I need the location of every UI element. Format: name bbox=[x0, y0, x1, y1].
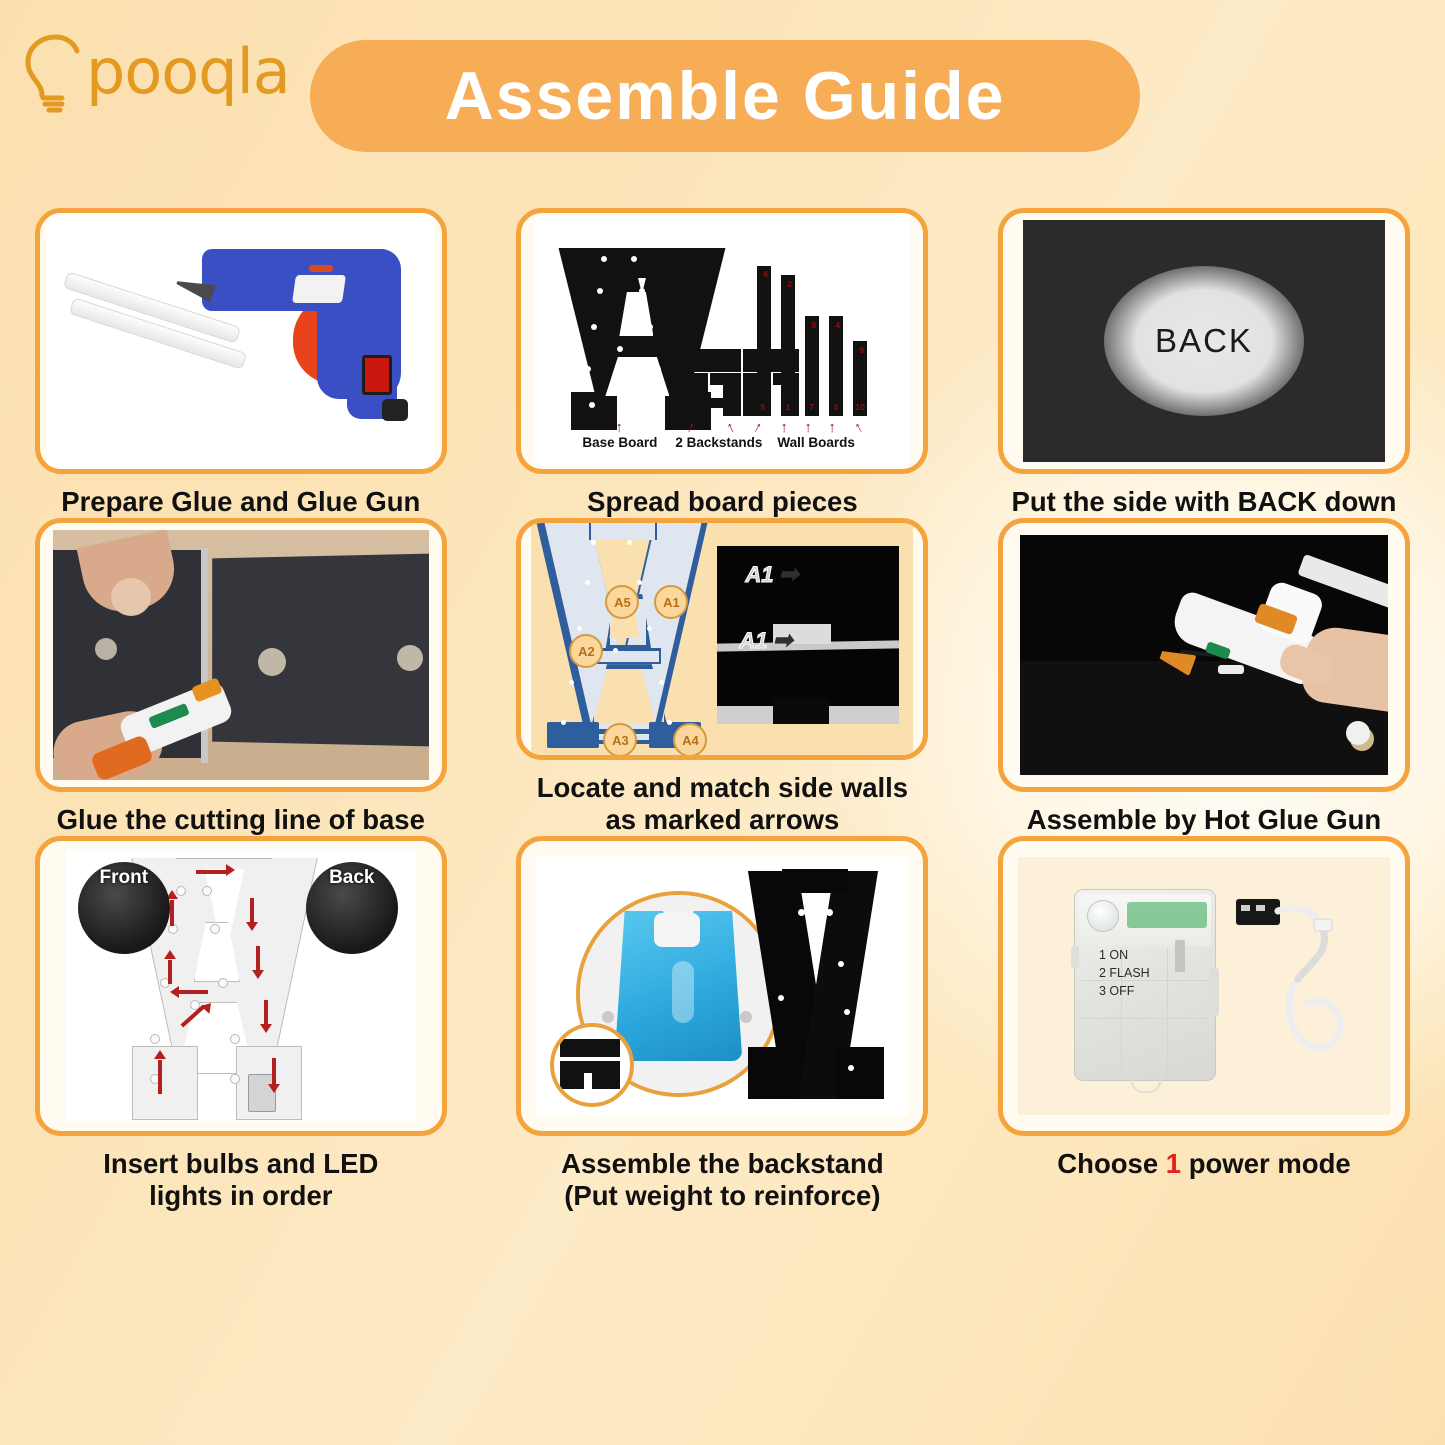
step-card-7: Front Back Insert bulbs and LED lights i… bbox=[0, 836, 482, 1212]
pointer-arrow-wall-1: ↑ bbox=[751, 419, 765, 436]
step-8-image-frame bbox=[516, 836, 928, 1136]
wall-board-num-top-3: 8 bbox=[811, 320, 816, 330]
arrow-label-text-2: A1 bbox=[739, 628, 767, 654]
back-label-illustration: BACK bbox=[1023, 220, 1385, 462]
glue-gun-illustration bbox=[47, 208, 435, 474]
wall-board-num-bottom-5: 10 bbox=[855, 402, 864, 412]
step-8-caption-line-1: Assemble the backstand bbox=[561, 1148, 883, 1180]
step-5-image-frame: A5 A1 A2 A3 A4 A1 bbox=[516, 518, 928, 760]
power-mode-1: 1 ON bbox=[1099, 948, 1128, 962]
assemble-guide-page: pooqla Assemble Guide bbox=[0, 0, 1445, 1445]
hot-glue-gun-assembly-illustration bbox=[1020, 535, 1388, 775]
pointer-arrow-base: ↑ bbox=[615, 420, 623, 435]
wall-board-num-bottom-3: 7 bbox=[809, 402, 814, 412]
wall-board-num-top-2: 2 bbox=[787, 279, 792, 289]
brand-name: pooqla bbox=[86, 41, 290, 103]
steps-row-2: Glue the cutting line of base bbox=[0, 518, 1445, 836]
label-backstands: 2 Backstands bbox=[675, 435, 762, 450]
usb-cable-icon bbox=[1228, 893, 1378, 1079]
pointer-arrow-wall-2: ↑ bbox=[780, 420, 788, 435]
steps-row-1: Prepare Glue and Glue Gun bbox=[0, 208, 1445, 518]
wall-board-num-top-4: 4 bbox=[835, 320, 840, 330]
side-wall-arrow-label-1: A1 ➡ bbox=[745, 560, 798, 589]
front-label: Front bbox=[100, 867, 149, 889]
pointer-arrow-wall-3: ↑ bbox=[804, 420, 812, 435]
step-7-image-frame: Front Back bbox=[35, 836, 447, 1136]
back-glow: BACK bbox=[1104, 266, 1304, 416]
step-2-caption: Spread board pieces bbox=[587, 486, 858, 518]
page-title-pill: Assemble Guide bbox=[310, 40, 1140, 152]
wall-board-num-bottom-4: 3 bbox=[833, 402, 838, 412]
pointer-arrow-wall-5: ↑ bbox=[852, 419, 866, 436]
backstand-assembly-illustration bbox=[536, 857, 908, 1115]
step-card-4: Glue the cutting line of base bbox=[0, 518, 482, 836]
step-5-caption: Locate and match side walls as marked ar… bbox=[537, 772, 908, 836]
step-3-caption: Put the side with BACK down bbox=[1011, 486, 1396, 518]
pointer-arrow-backstand-2: ↑ bbox=[725, 419, 738, 436]
side-wall-markers-illustration: A5 A1 A2 A3 A4 A1 bbox=[531, 518, 913, 760]
steps-row-3: Front Back Insert bulbs and LED lights i… bbox=[0, 836, 1445, 1212]
step-card-1: Prepare Glue and Glue Gun bbox=[0, 208, 482, 518]
step-9-caption-suffix: power mode bbox=[1181, 1148, 1351, 1179]
step-card-2: 6 2 8 4 9 5 1 7 3 10 ↑ ↑ ↑ ↑ bbox=[482, 208, 964, 518]
label-wall-boards: Wall Boards bbox=[777, 435, 855, 450]
step-1-caption: Prepare Glue and Glue Gun bbox=[61, 486, 420, 518]
power-mode-2: 2 FLASH bbox=[1099, 966, 1150, 980]
step-3-image-frame: BACK bbox=[998, 208, 1410, 474]
gluing-base-illustration bbox=[53, 530, 429, 780]
brand-logo: pooqla bbox=[22, 28, 290, 116]
power-mode-3: 3 OFF bbox=[1099, 984, 1134, 998]
wall-board-num-bottom-2: 1 bbox=[785, 402, 790, 412]
step-card-6: Assemble by Hot Glue Gun bbox=[963, 518, 1445, 836]
steps-grid: Prepare Glue and Glue Gun bbox=[0, 208, 1445, 1212]
label-base-board: Base Board bbox=[582, 435, 657, 450]
pointer-arrow-wall-4: ↑ bbox=[828, 420, 836, 435]
step-1-image-frame bbox=[35, 208, 447, 474]
back-bulb-photo: Back bbox=[306, 862, 398, 954]
page-title: Assemble Guide bbox=[445, 57, 1006, 135]
step-7-caption-line-1: Insert bulbs and LED bbox=[103, 1148, 378, 1180]
lightbulb-icon bbox=[22, 28, 88, 116]
step-8-caption: Assemble the backstand (Put weight to re… bbox=[561, 1148, 883, 1212]
step-9-caption-highlight: 1 bbox=[1166, 1148, 1181, 1179]
page-header: pooqla Assemble Guide bbox=[0, 0, 1445, 175]
arrow-label-text-1: A1 bbox=[745, 562, 773, 588]
side-wall-badge-a4: A4 bbox=[673, 723, 707, 757]
step-6-caption: Assemble by Hot Glue Gun bbox=[1027, 804, 1382, 836]
step-card-9: 1 ON 2 FLASH 3 OFF bbox=[963, 836, 1445, 1212]
step-7-caption-line-2: lights in order bbox=[103, 1180, 378, 1212]
step-7-caption: Insert bulbs and LED lights in order bbox=[103, 1148, 378, 1212]
step-4-image-frame bbox=[35, 518, 447, 792]
wall-board-num-top-5: 9 bbox=[859, 345, 864, 355]
power-mode-illustration: 1 ON 2 FLASH 3 OFF bbox=[1018, 857, 1390, 1115]
step-9-caption: Choose 1 power mode bbox=[1057, 1148, 1350, 1180]
step-5-caption-line-1: Locate and match side walls bbox=[537, 772, 908, 804]
back-label: Back bbox=[329, 867, 374, 889]
right-arrow-icon-1: ➡ bbox=[779, 560, 799, 589]
side-wall-arrow-label-2: A1 ➡ bbox=[739, 626, 792, 655]
step-9-image-frame: 1 ON 2 FLASH 3 OFF bbox=[998, 836, 1410, 1136]
step-card-3: BACK Put the side with BACK down bbox=[963, 208, 1445, 518]
wall-board-num-top-1: 6 bbox=[763, 269, 768, 279]
side-wall-badge-a3: A3 bbox=[603, 723, 637, 757]
board-pieces-diagram: 6 2 8 4 9 5 1 7 3 10 ↑ ↑ ↑ ↑ bbox=[535, 216, 909, 466]
step-5-caption-line-2: as marked arrows bbox=[537, 804, 908, 836]
step-8-caption-line-2: (Put weight to reinforce) bbox=[561, 1180, 883, 1212]
battery-box: 1 ON 2 FLASH 3 OFF bbox=[1074, 889, 1216, 1081]
bulb-order-illustration: Front Back bbox=[66, 850, 416, 1122]
step-card-5: A5 A1 A2 A3 A4 A1 bbox=[482, 518, 964, 836]
step-9-caption-prefix: Choose bbox=[1057, 1148, 1165, 1179]
wall-board-num-bottom-1: 5 bbox=[760, 402, 765, 412]
back-text: BACK bbox=[1155, 322, 1253, 360]
step-6-image-frame bbox=[998, 518, 1410, 792]
step-4-caption: Glue the cutting line of base bbox=[57, 804, 425, 836]
step-card-8: Assemble the backstand (Put weight to re… bbox=[482, 836, 964, 1212]
step-2-image-frame: 6 2 8 4 9 5 1 7 3 10 ↑ ↑ ↑ ↑ bbox=[516, 208, 928, 474]
right-arrow-icon-2: ➡ bbox=[773, 626, 793, 655]
front-bulb-photo: Front bbox=[78, 862, 170, 954]
backstand-notch-icon bbox=[550, 1023, 634, 1107]
